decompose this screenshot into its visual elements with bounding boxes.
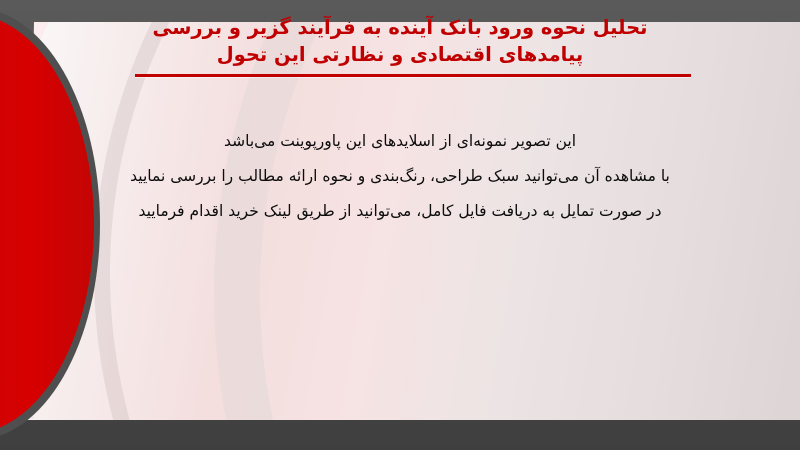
slide-title: تحلیل نحوه ورود بانک آینده به فرآیند گزی… <box>0 14 800 68</box>
presentation-slide: تحلیل نحوه ورود بانک آینده به فرآیند گزی… <box>0 0 800 450</box>
body-line-1: این تصویر نمونه‌ای از اسلایدهای این پاور… <box>40 124 760 159</box>
body-line-2: با مشاهده آن می‌توانید سبک طراحی، رنگ‌بن… <box>40 159 760 194</box>
title-line-1: تحلیل نحوه ورود بانک آینده به فرآیند گزی… <box>0 14 800 41</box>
title-divider-rule <box>135 74 691 77</box>
slide-body-text: این تصویر نمونه‌ای از اسلایدهای این پاور… <box>0 124 800 229</box>
body-line-3: در صورت تمایل به دریافت فایل کامل، می‌تو… <box>40 194 760 229</box>
title-line-2: پیامدهای اقتصادی و نظارتی این تحول <box>0 41 800 68</box>
